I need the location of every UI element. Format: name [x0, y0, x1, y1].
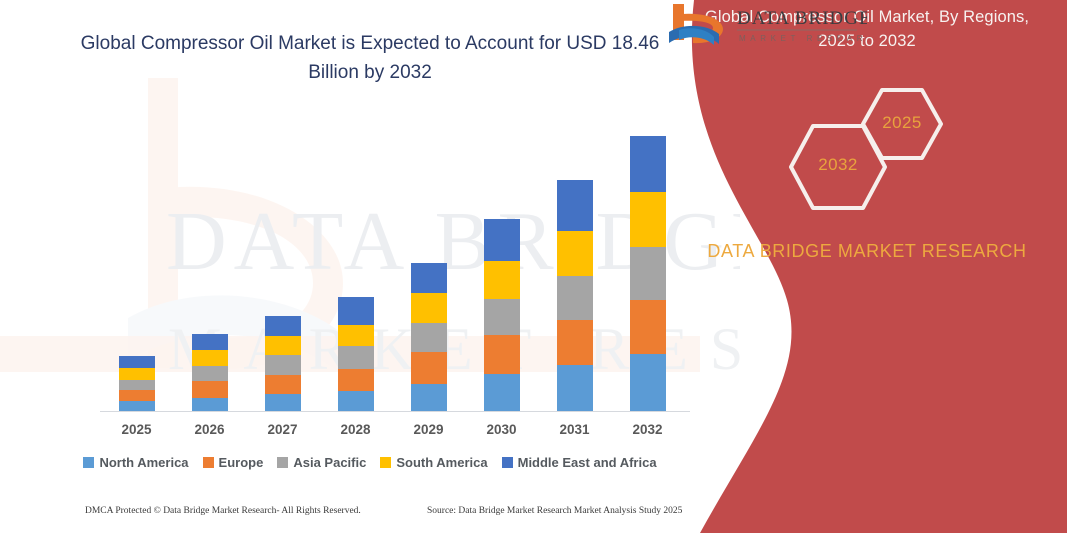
bar-segment-2027-1 — [265, 375, 301, 395]
bar-segment-2026-4 — [192, 334, 228, 350]
bar-segment-2026-1 — [192, 381, 228, 398]
footer-source: Source: Data Bridge Market Research Mark… — [427, 506, 682, 516]
bar-segment-2032-4 — [630, 136, 666, 192]
bar-segment-2032-2 — [630, 247, 666, 300]
bar-segment-2025-2 — [119, 380, 155, 391]
bar-segment-2029-3 — [411, 293, 447, 322]
legend-item-4[interactable]: Middle East and Africa — [502, 455, 657, 470]
bar-segment-2031-0 — [557, 365, 593, 412]
brand-name: DATA BRIDGE MARKET RESEARCH — [687, 238, 1047, 265]
bar-segment-2032-1 — [630, 300, 666, 354]
bar-segment-2027-3 — [265, 336, 301, 355]
x-tick-2031: 2031 — [540, 422, 610, 437]
bar-segment-2026-3 — [192, 350, 228, 366]
legend-swatch-icon — [277, 457, 288, 468]
bar-segment-2025-1 — [119, 390, 155, 401]
bar-2029 — [411, 263, 447, 412]
footer: DMCA Protected © Data Bridge Market Rese… — [0, 506, 700, 526]
bar-segment-2025-4 — [119, 356, 155, 368]
bar-segment-2029-4 — [411, 263, 447, 294]
brand-panel: Global Compressor Oil Market, By Regions… — [667, 0, 1067, 533]
data-bridge-logo: DATA BRIDGE MARKET RESEARCH — [667, 0, 867, 50]
bar-segment-2028-0 — [338, 391, 374, 412]
bar-segment-2031-2 — [557, 276, 593, 319]
bar-segment-2029-1 — [411, 352, 447, 383]
legend-swatch-icon — [83, 457, 94, 468]
bar-segment-2030-2 — [484, 299, 520, 335]
bar-2030 — [484, 219, 520, 412]
page-title: Global Compressor Oil Market is Expected… — [60, 30, 680, 87]
bar-2025 — [119, 356, 155, 412]
hexagon-start-year-label: 2025 — [860, 113, 944, 133]
bar-segment-2025-3 — [119, 368, 155, 380]
bar-segment-2028-2 — [338, 346, 374, 369]
bar-segment-2032-0 — [630, 354, 666, 412]
x-tick-2025: 2025 — [102, 422, 172, 437]
bar-segment-2027-2 — [265, 355, 301, 375]
hexagon-group: 2032 2025 — [722, 85, 1052, 220]
bar-segment-2027-4 — [265, 316, 301, 337]
bar-segment-2028-3 — [338, 325, 374, 347]
bar-segment-2026-2 — [192, 366, 228, 382]
bar-2026 — [192, 334, 228, 412]
bar-segment-2027-0 — [265, 394, 301, 412]
legend-label: Asia Pacific — [293, 455, 366, 470]
hexagon-start-year: 2025 — [860, 87, 944, 161]
bar-segment-2031-4 — [557, 180, 593, 231]
legend-label: South America — [396, 455, 487, 470]
bar-segment-2030-0 — [484, 374, 520, 412]
legend-label: Europe — [219, 455, 264, 470]
stacked-bar-chart — [100, 120, 684, 412]
x-tick-2029: 2029 — [394, 422, 464, 437]
x-tick-2030: 2030 — [467, 422, 537, 437]
bar-segment-2026-0 — [192, 398, 228, 412]
logo-secondary-text: MARKET RESEARCH — [739, 34, 867, 43]
legend-label: North America — [99, 455, 188, 470]
x-tick-2028: 2028 — [321, 422, 391, 437]
chart-pane: Global Compressor Oil Market is Expected… — [0, 0, 740, 533]
x-tick-2027: 2027 — [248, 422, 318, 437]
bar-segment-2028-4 — [338, 297, 374, 325]
bar-segment-2031-3 — [557, 231, 593, 276]
bar-segment-2029-2 — [411, 323, 447, 352]
legend-item-2[interactable]: Asia Pacific — [277, 455, 366, 470]
bar-segment-2030-3 — [484, 261, 520, 299]
legend-item-0[interactable]: North America — [83, 455, 188, 470]
bar-2028 — [338, 297, 374, 412]
bar-segment-2030-1 — [484, 335, 520, 373]
x-axis-labels: 20252026202720282029203020312032 — [100, 419, 684, 443]
x-tick-2026: 2026 — [175, 422, 245, 437]
x-axis-line — [100, 411, 690, 412]
legend-item-1[interactable]: Europe — [203, 455, 264, 470]
bar-segment-2031-1 — [557, 320, 593, 365]
legend-swatch-icon — [203, 457, 214, 468]
legend-label: Middle East and Africa — [518, 455, 657, 470]
logo-mark-icon — [669, 4, 723, 45]
legend-swatch-icon — [380, 457, 391, 468]
bar-segment-2030-4 — [484, 219, 520, 260]
footer-copyright: DMCA Protected © Data Bridge Market Rese… — [85, 506, 361, 516]
bar-2031 — [557, 180, 593, 412]
legend-swatch-icon — [502, 457, 513, 468]
infographic-root: DATA BRIDGE MARKET RESEARCH Global Compr… — [0, 0, 1067, 533]
bar-2027 — [265, 316, 301, 412]
logo-primary-text: DATA BRIDGE — [737, 8, 867, 29]
chart-legend: North AmericaEuropeAsia PacificSouth Ame… — [0, 455, 740, 470]
bar-segment-2032-3 — [630, 192, 666, 247]
bar-2032 — [630, 136, 666, 412]
bar-segment-2028-1 — [338, 369, 374, 392]
bar-segment-2029-0 — [411, 384, 447, 412]
legend-item-3[interactable]: South America — [380, 455, 487, 470]
